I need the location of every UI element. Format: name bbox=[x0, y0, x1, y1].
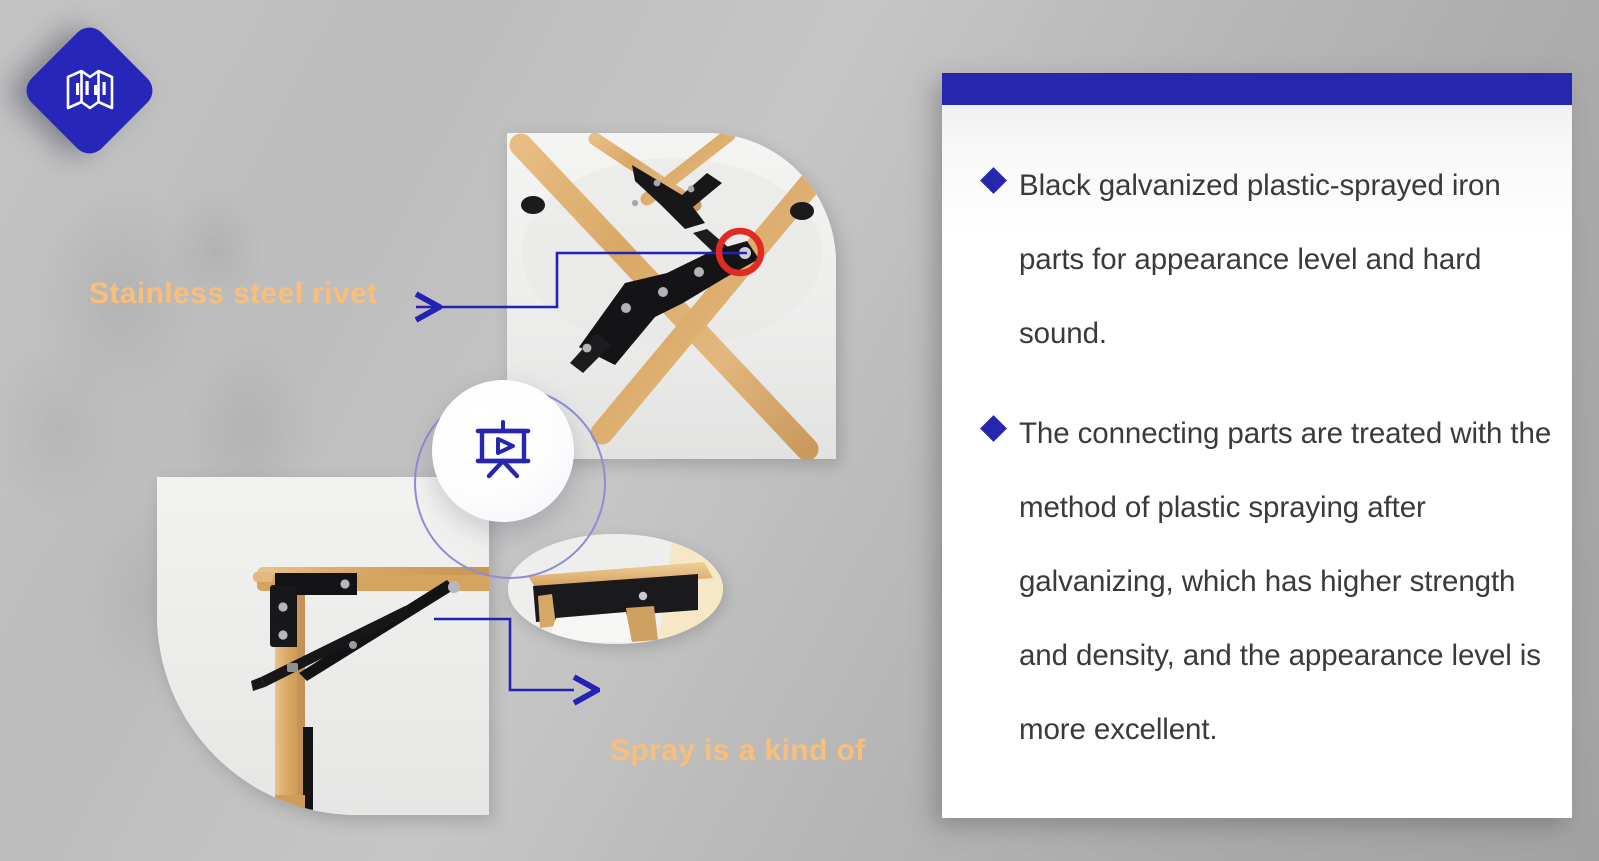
label-spray-line1: Spray is a kind of bbox=[610, 734, 866, 767]
panel-body: Black galvanized plastic-sprayed iron pa… bbox=[942, 105, 1572, 767]
bullet-item-2: The connecting parts are treated with th… bbox=[942, 397, 1572, 767]
panel-header-bar bbox=[942, 73, 1572, 105]
bullet-text-2: The connecting parts are treated with th… bbox=[1019, 397, 1554, 767]
diamond-bullet-icon bbox=[980, 167, 1007, 194]
content-panel: Black galvanized plastic-sprayed iron pa… bbox=[942, 73, 1572, 818]
diamond-bullet-icon bbox=[980, 415, 1007, 442]
bullet-text-1: Black galvanized plastic-sprayed iron pa… bbox=[1019, 149, 1554, 371]
slide-canvas: Stainless steel rivet Spray is a kind of… bbox=[0, 0, 1599, 861]
presentation-play-badge[interactable] bbox=[432, 380, 574, 522]
presentation-play-icon bbox=[471, 418, 535, 485]
label-stainless-steel-rivet: Stainless steel rivet bbox=[89, 277, 378, 311]
bullet-item-1: Black galvanized plastic-sprayed iron pa… bbox=[942, 149, 1572, 371]
map-book-icon bbox=[40, 41, 139, 140]
label-spray-surface-treatment: Spray is a kind of surface treatment bbox=[575, 656, 869, 861]
